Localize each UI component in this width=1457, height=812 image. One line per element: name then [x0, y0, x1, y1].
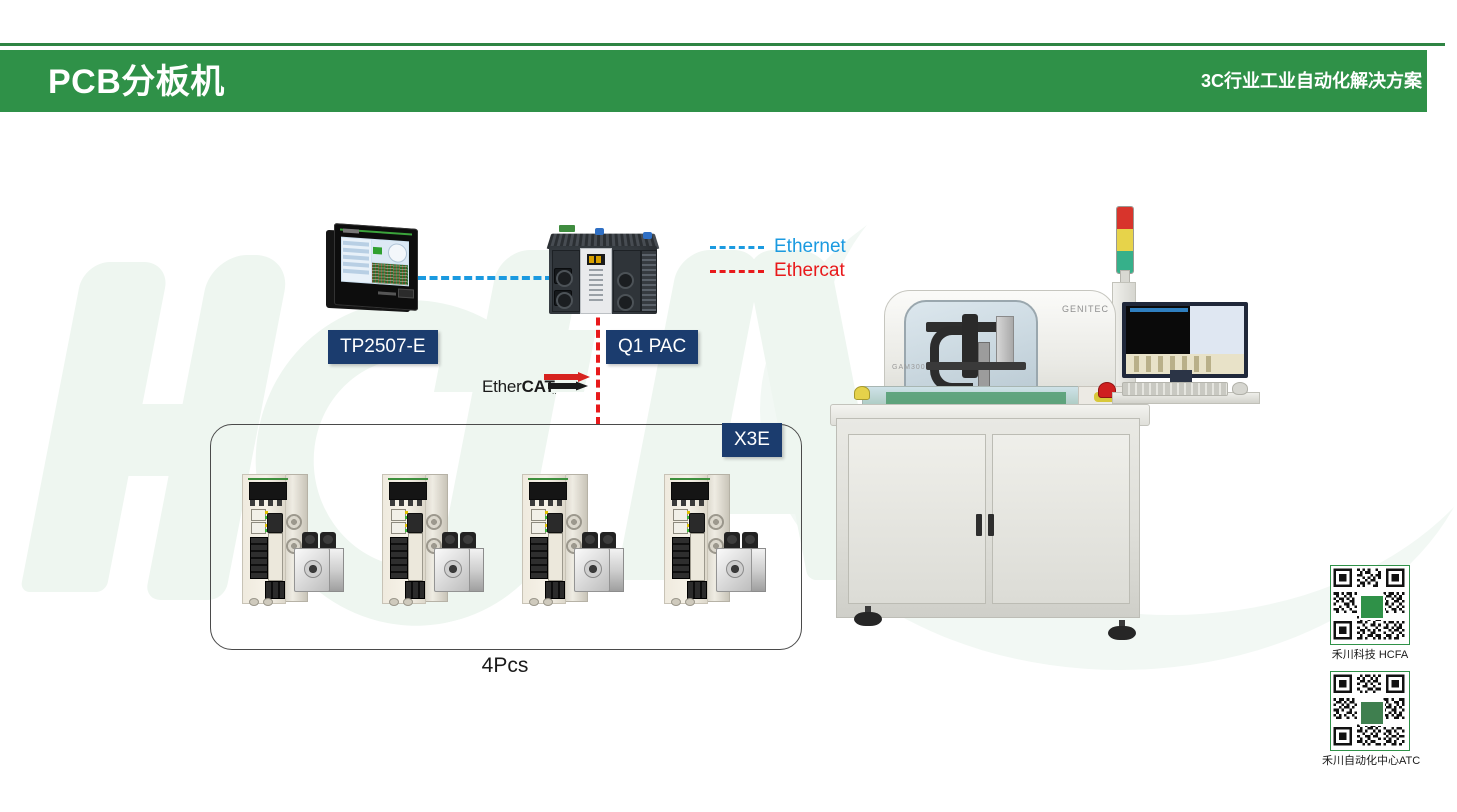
servo-fan-vent	[426, 514, 442, 530]
ethercat-connection-line	[596, 305, 600, 425]
servo-encoder-port	[548, 533, 563, 581]
monitor-software-pane	[1190, 306, 1244, 354]
servo-top-accent	[528, 478, 568, 480]
pac-display	[587, 254, 605, 265]
servo-power-terminal	[687, 581, 707, 599]
monitor-bar	[1194, 356, 1199, 372]
servo-io-connector	[547, 513, 563, 533]
device-label-controller: Q1 PAC	[606, 330, 698, 364]
servo-top-accent	[670, 478, 710, 480]
servo-ethercat-port-in	[673, 509, 688, 521]
mouse-icon[interactable]	[1232, 382, 1248, 395]
servo-fan-vent	[286, 514, 302, 530]
pac-knob[interactable]	[556, 270, 573, 287]
servo-encoder-port	[268, 533, 283, 581]
pcb-depaneling-machine-photo: GENITEC GAM300	[826, 196, 1278, 664]
servo-front-panel	[664, 474, 708, 604]
tower-red-lamp	[1117, 207, 1133, 229]
servo-keypad	[390, 500, 424, 506]
pac-led-row	[589, 294, 603, 296]
servo-top-accent	[248, 478, 288, 480]
device-label-hmi: TP2507-E	[328, 330, 438, 364]
ethercat-logo-icon: EtherCAT ..	[482, 375, 590, 401]
servo-motor-hub	[726, 560, 744, 578]
machine-cylinder	[996, 316, 1014, 364]
cabinet-handle[interactable]	[976, 514, 982, 536]
servo-encoder-port	[690, 533, 705, 581]
servo-terminal-block	[390, 537, 408, 579]
servo-motor-hub	[304, 560, 322, 578]
monitor-bar	[1158, 356, 1163, 372]
qr-center-logo	[1359, 594, 1385, 620]
servo-ethercat-port-out	[391, 522, 406, 534]
signal-tower-light-icon	[1116, 206, 1134, 274]
servo-display	[671, 482, 709, 500]
servo-drive-unit	[238, 472, 353, 607]
watermark-letter-h-left	[20, 262, 170, 592]
pac-knob[interactable]	[617, 272, 634, 289]
machine-foot-pad	[854, 612, 882, 626]
pac-cpu-module	[580, 248, 612, 314]
servo-ethercat-port-out	[673, 522, 688, 534]
hmi-screen	[341, 237, 409, 287]
servo-display	[389, 482, 427, 500]
pac-led-row	[589, 279, 603, 281]
tower-yellow-lamp	[1117, 229, 1133, 251]
servo-keypad	[250, 500, 284, 506]
operator-monitor	[1122, 302, 1248, 378]
drive-quantity-label: 4Pcs	[210, 652, 800, 680]
machine-lower-rail	[926, 362, 1026, 370]
servo-fan-vent	[708, 514, 724, 530]
monitor-bar	[1146, 356, 1151, 372]
servo-base-feet	[389, 598, 415, 604]
servo-fan-vent	[566, 514, 582, 530]
servo-io-connector	[407, 513, 423, 533]
qr-center-logo	[1359, 700, 1385, 726]
page-title: PCB分板机	[48, 60, 225, 104]
servo-ethercat-port-out	[531, 522, 546, 534]
pac-led-row	[589, 269, 603, 271]
ethercat-arrow-icon	[544, 372, 590, 392]
servo-io-connector	[689, 513, 705, 533]
qr-code-icon[interactable]	[1330, 565, 1410, 645]
monitor-titlebar	[1130, 308, 1188, 312]
servo-base-feet	[529, 598, 555, 604]
dashed-line-icon	[710, 246, 764, 249]
monitor-bar	[1206, 356, 1211, 372]
servo-terminal-block	[672, 537, 690, 579]
servo-drive-unit	[660, 472, 775, 607]
pac-knob[interactable]	[556, 292, 573, 309]
header-top-rule	[0, 43, 1445, 46]
qr-code-block: 禾川科技 HCFA	[1322, 565, 1418, 765]
pac-body	[549, 246, 657, 314]
servo-top-accent	[388, 478, 428, 480]
hmi-screen-gauge	[388, 243, 407, 263]
qr-entry-hcfa: 禾川科技 HCFA	[1322, 565, 1418, 663]
pac-knob[interactable]	[617, 294, 634, 311]
machine-indicator-button[interactable]	[854, 386, 870, 400]
machine-cabinet-door-right[interactable]	[992, 434, 1130, 604]
servo-display	[529, 482, 567, 500]
servo-base-feet	[671, 598, 697, 604]
servo-motor-hub	[584, 560, 602, 578]
servo-front-panel	[382, 474, 426, 604]
pac-green-terminal	[559, 225, 575, 232]
servo-keypad	[530, 500, 564, 506]
hmi-power-button[interactable]	[398, 288, 414, 298]
servo-drive-unit	[378, 472, 493, 607]
servo-base-feet	[249, 598, 275, 604]
machine-foot-pad	[1108, 626, 1136, 640]
servo-power-terminal	[265, 581, 285, 599]
servo-power-terminal	[545, 581, 565, 599]
qr-code-icon[interactable]	[1330, 671, 1410, 751]
device-label-drive-group: X3E	[722, 423, 782, 457]
qr-caption-atc: 禾川自动化中心ATC	[1322, 754, 1418, 769]
machine-brand-mark: GENITEC	[1062, 304, 1109, 314]
dashed-line-icon	[710, 270, 764, 273]
monitor-camera-view	[1126, 306, 1190, 354]
servo-io-connector	[267, 513, 283, 533]
header-subtitle: 3C行业工业自动化解决方案	[1201, 68, 1422, 94]
slide-canvas: PCB分板机 3C行业工业自动化解决方案 Ethernet Ethercat	[0, 0, 1457, 812]
servo-drive-unit	[518, 472, 633, 607]
pac-led-row	[589, 284, 603, 286]
servo-motor-hub	[444, 560, 462, 578]
servo-front-panel	[522, 474, 566, 604]
qr-caption-hcfa: 禾川科技 HCFA	[1322, 648, 1418, 663]
servo-front-panel	[242, 474, 286, 604]
qr-entry-atc: 禾川自动化中心ATC	[1322, 671, 1418, 769]
servo-keypad	[672, 500, 706, 506]
servo-ethercat-port-in	[251, 509, 266, 521]
servo-ethercat-port-in	[391, 509, 406, 521]
cabinet-handle[interactable]	[988, 514, 994, 536]
pac-led-row	[589, 289, 603, 291]
hmi-panel-icon	[326, 226, 422, 316]
pac-blue-connector	[595, 228, 604, 235]
servo-display	[249, 482, 287, 500]
hmi-screen-status-block	[373, 247, 382, 255]
pac-controller-icon	[543, 230, 663, 322]
servo-encoder-port	[408, 533, 423, 581]
pac-led-row	[589, 299, 603, 301]
monitor-bar	[1134, 356, 1139, 372]
pac-module-end	[641, 250, 657, 312]
servo-ethercat-port-in	[531, 509, 546, 521]
servo-ethercat-port-out	[251, 522, 266, 534]
servo-terminal-block	[250, 537, 268, 579]
pac-blue-connector	[643, 232, 652, 239]
hmi-screen-bottom-right-pane	[372, 263, 408, 286]
machine-model-mark: GAM300	[892, 364, 926, 371]
servo-terminal-block	[530, 537, 548, 579]
pac-led-row	[589, 274, 603, 276]
machine-cabinet-door-left[interactable]	[848, 434, 986, 604]
keyboard-icon[interactable]	[1122, 382, 1228, 396]
servo-power-terminal	[405, 581, 425, 599]
ethernet-connection-line	[418, 276, 553, 280]
